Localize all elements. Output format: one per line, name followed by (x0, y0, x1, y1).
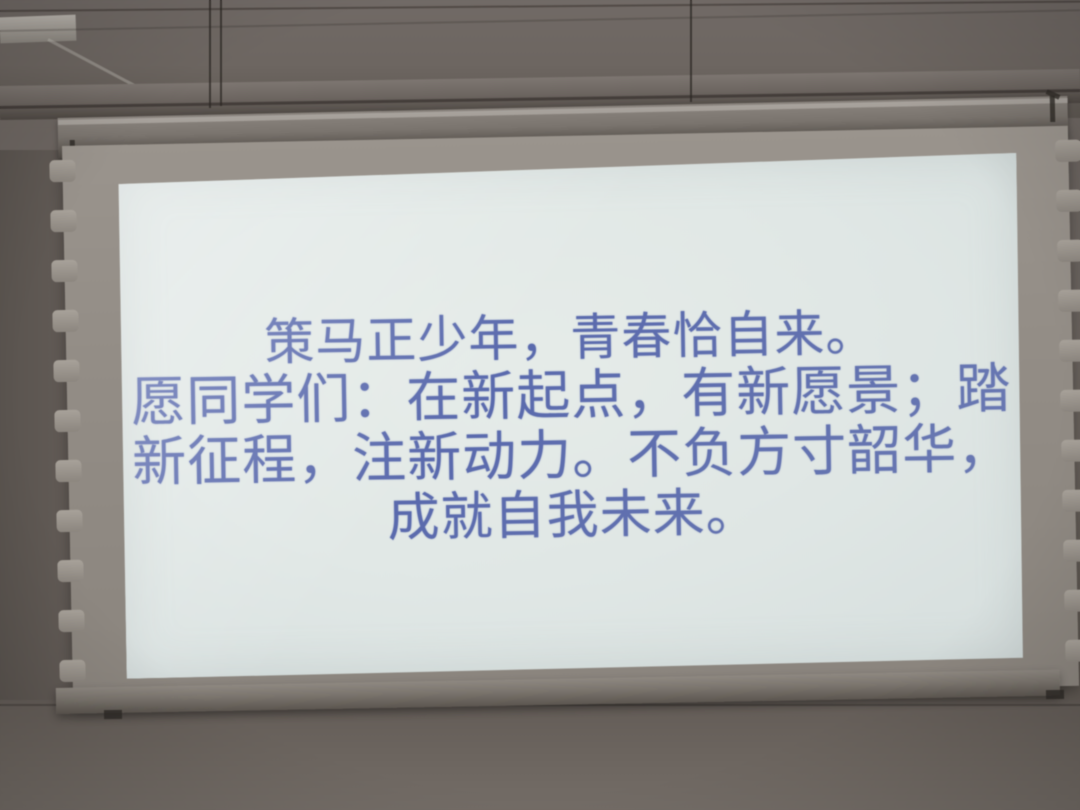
ceiling-hanger-rod (209, 0, 211, 108)
ceiling-hanger-rod (220, 0, 222, 106)
slide-text-block: 策马正少年，青春恰自来。 愿同学们：在新起点，有新愿景；踏 新征程，注新动力。不… (120, 303, 1024, 552)
classroom-photo: 策马正少年，青春恰自来。 愿同学们：在新起点，有新愿景；踏 新征程，注新动力。不… (0, 0, 1080, 810)
screen-bar-endcap-left (104, 710, 122, 719)
screen-bar-endcap-right (1046, 690, 1064, 699)
wall-lower-panel (0, 700, 1080, 810)
projected-slide: 策马正少年，青春恰自来。 愿同学们：在新起点，有新愿景；踏 新征程，注新动力。不… (117, 153, 1027, 679)
screen-mount-bracket-right (1050, 96, 1056, 122)
projection-screen: 策马正少年，青春恰自来。 愿同学们：在新起点，有新愿景；踏 新征程，注新动力。不… (62, 126, 1079, 706)
ceiling-hanger-rod (690, 0, 692, 102)
